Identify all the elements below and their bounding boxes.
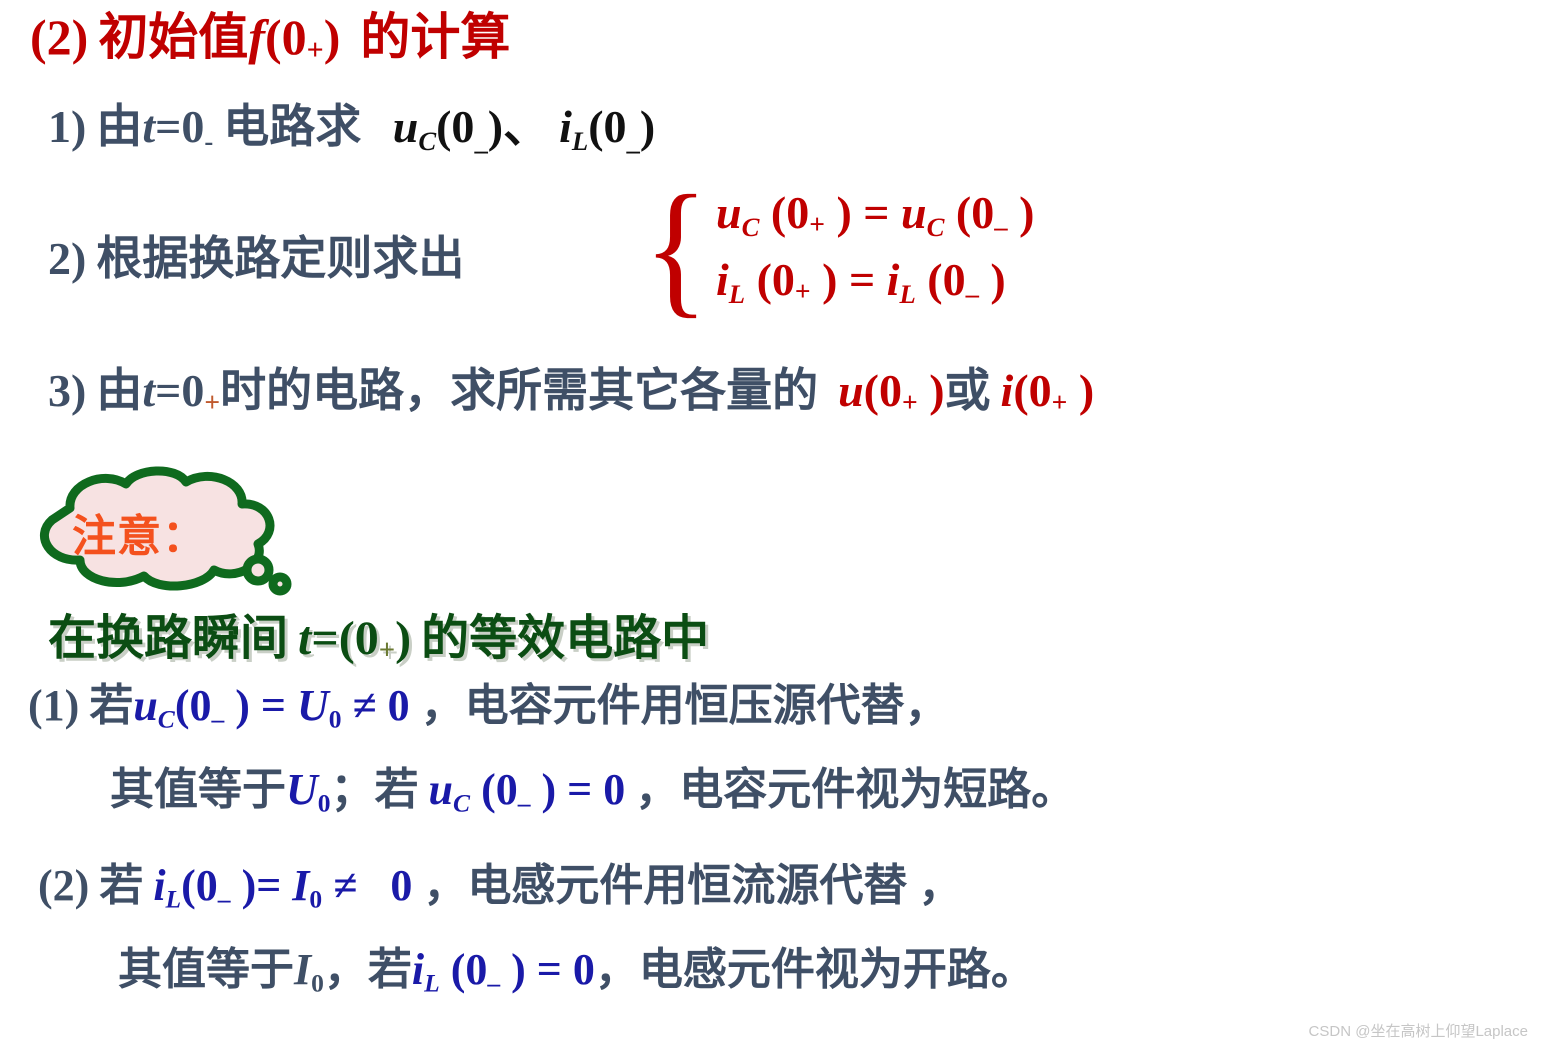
equation-uc: uC (0+ ) = uC (0– ) — [716, 186, 1034, 243]
title-prefix: (2) — [30, 9, 88, 65]
step-3-eq: =0 — [155, 365, 204, 416]
green-sup: + — [379, 634, 395, 666]
curly-brace-icon: { — [644, 188, 709, 308]
slide-canvas: (2)初始值f(0+)的计算 1)由t=0-电路求 uC(0_)、iL(0_) … — [0, 0, 1542, 1045]
il-arg-open: (0 — [588, 101, 626, 152]
note-1-number: (1) — [28, 681, 79, 730]
step-2-line: 2)根据换路定则求出 — [48, 236, 464, 282]
note-1-tail: ，电容元件用恒压源代替， — [421, 681, 949, 730]
note-2-l2-lead: 其值等于 — [118, 945, 294, 994]
green-text-b: 的等效电路中 — [421, 612, 709, 665]
note-1-line-2: 其值等于U0；若uC (0– ) = 0，电容元件视为短路。 — [110, 768, 1075, 816]
step-1-text: 由 — [96, 101, 142, 152]
il-arg-sub: _ — [627, 126, 640, 156]
title-arg-open: (0 — [265, 9, 307, 65]
green-eq: =(0 — [311, 612, 378, 665]
step-3-var-t: t — [142, 365, 155, 416]
green-close: ) — [395, 612, 411, 665]
uc-subscript: C — [418, 126, 436, 156]
note-1-line-1: (1)若uC(0– ) = U0 ≠ 0 ，电容元件用恒压源代替， — [28, 684, 949, 732]
title-arg-close: ) — [324, 9, 341, 65]
title-text-b: 的计算 — [360, 9, 510, 65]
title-function-symbol: f — [248, 9, 265, 65]
step-3-joiner: 或 — [945, 365, 991, 416]
watermark-label: CSDN @坐在高树上仰望Laplace — [1309, 1020, 1528, 1041]
step-1-number: 1) — [48, 101, 86, 152]
step-3-text2: 时的电路，求所需其它各量的 — [220, 365, 818, 416]
title-text-a: 初始值 — [98, 9, 248, 65]
step-1-text2: 电路求 — [223, 101, 361, 152]
note-2-lead: 若 — [99, 861, 143, 910]
step-3-line: 3)由t=0+时的电路，求所需其它各量的u(0+ )或i(0+ ) — [48, 368, 1094, 416]
note-1-l2-mid: ；若 — [331, 765, 419, 814]
green-text-a: 在换路瞬间 — [48, 612, 288, 665]
switching-law-equation-group: { uC (0+ ) = uC (0– ) iL (0+ ) = iL (0– … — [640, 186, 1034, 310]
uc-arg-close: ) — [488, 101, 503, 152]
step-1-var-t: t — [142, 101, 155, 152]
il-subscript: L — [572, 126, 588, 156]
step-2-number: 2) — [48, 233, 86, 284]
step-2-text: 根据换路定则求出 — [96, 233, 464, 284]
note-2-tail: ，电感元件用恒流源代替 ， — [423, 861, 962, 910]
step-1-line: 1)由t=0-电路求 uC(0_)、iL(0_) — [48, 104, 655, 155]
green-emphasis-line: 在换路瞬间t=(0+)的等效电路中 — [48, 598, 709, 668]
page-title: (2)初始值f(0+)的计算 — [30, 12, 510, 65]
uc-arg-sub: _ — [474, 126, 487, 156]
step-1-eq: =0 — [155, 101, 204, 152]
note-2-l2-mid: ，若 — [324, 945, 412, 994]
il-arg-close: ) — [640, 101, 655, 152]
equation-stack: uC (0+ ) = uC (0– ) iL (0+ ) = iL (0– ) — [716, 186, 1034, 310]
note-2-number: (2) — [38, 861, 89, 910]
equation-il: iL (0+ ) = iL (0– ) — [716, 253, 1034, 310]
uc-symbol: u — [393, 101, 419, 152]
callout-label: 注意： — [72, 500, 207, 564]
step-3-text: 由 — [96, 365, 142, 416]
math-separator: 、 — [503, 101, 549, 152]
green-var-t: t — [298, 612, 311, 665]
note-2-l2-tail: ，电感元件视为开路。 — [595, 945, 1035, 994]
note-1-l2-lead: 其值等于 — [110, 765, 286, 814]
note-2-line-2: 其值等于I0，若iL (0– ) = 0，电感元件视为开路。 — [118, 948, 1035, 996]
uc-arg-open: (0 — [436, 101, 474, 152]
note-1-l2-tail: ，电容元件视为短路。 — [635, 765, 1075, 814]
step-3-number: 3) — [48, 365, 86, 416]
il-symbol: i — [559, 101, 572, 152]
title-arg-superscript: + — [307, 33, 324, 66]
step-3-sup: + — [204, 386, 220, 417]
step-1-sub: - — [204, 126, 213, 156]
note-1-lead: 若 — [89, 681, 133, 730]
note-2-line-1: (2)若iL(0– )= I0 ≠ 0 ，电感元件用恒流源代替 ， — [38, 864, 962, 912]
